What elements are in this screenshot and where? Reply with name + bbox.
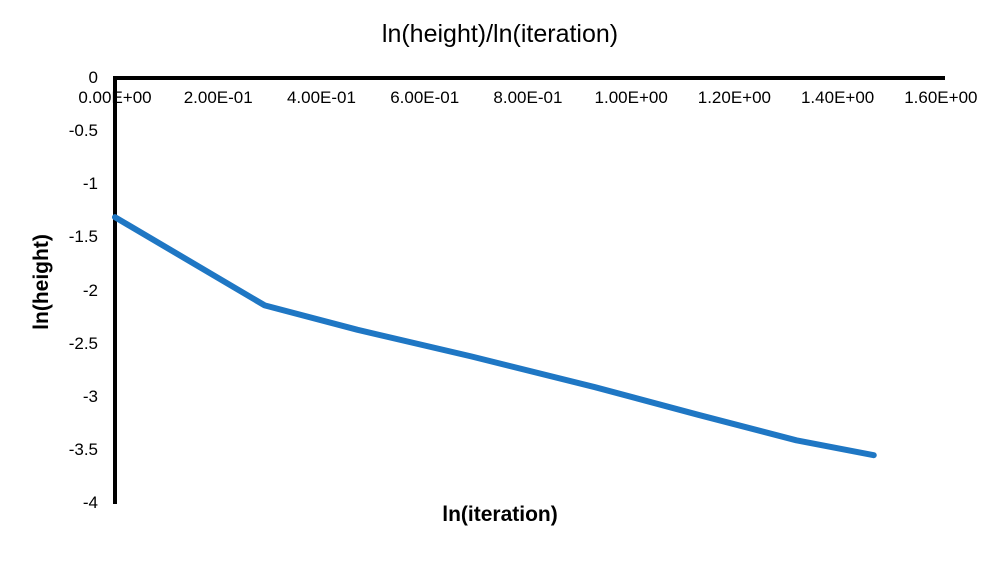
x-tick-label: 1.00E+00	[595, 88, 668, 108]
data-series-line	[115, 217, 874, 455]
x-tick-label: 1.40E+00	[801, 88, 874, 108]
y-axis-title: ln(height)	[30, 202, 54, 362]
x-axis-title: ln(iteration)	[0, 503, 1000, 527]
x-tick-label: 1.60E+00	[904, 88, 977, 108]
y-tick-label: -1.5	[58, 227, 98, 247]
y-tick-label: -3	[58, 387, 98, 407]
x-tick-label: 8.00E-01	[493, 88, 562, 108]
y-tick-label: -1	[58, 174, 98, 194]
x-tick-label: 1.20E+00	[698, 88, 771, 108]
y-tick-label: 0	[58, 68, 98, 88]
chart-container: ln(height)/ln(iteration) 0.00E+002.00E-0…	[0, 0, 1000, 561]
y-tick-label: -2	[58, 281, 98, 301]
y-tick-label: -3.5	[58, 440, 98, 460]
x-tick-label: 6.00E-01	[390, 88, 459, 108]
plot-area	[0, 0, 1000, 561]
x-tick-label: 0.00E+00	[78, 88, 151, 108]
y-tick-label: -2.5	[58, 334, 98, 354]
y-tick-label: -0.5	[58, 121, 98, 141]
x-tick-label: 4.00E-01	[287, 88, 356, 108]
x-tick-label: 2.00E-01	[184, 88, 253, 108]
